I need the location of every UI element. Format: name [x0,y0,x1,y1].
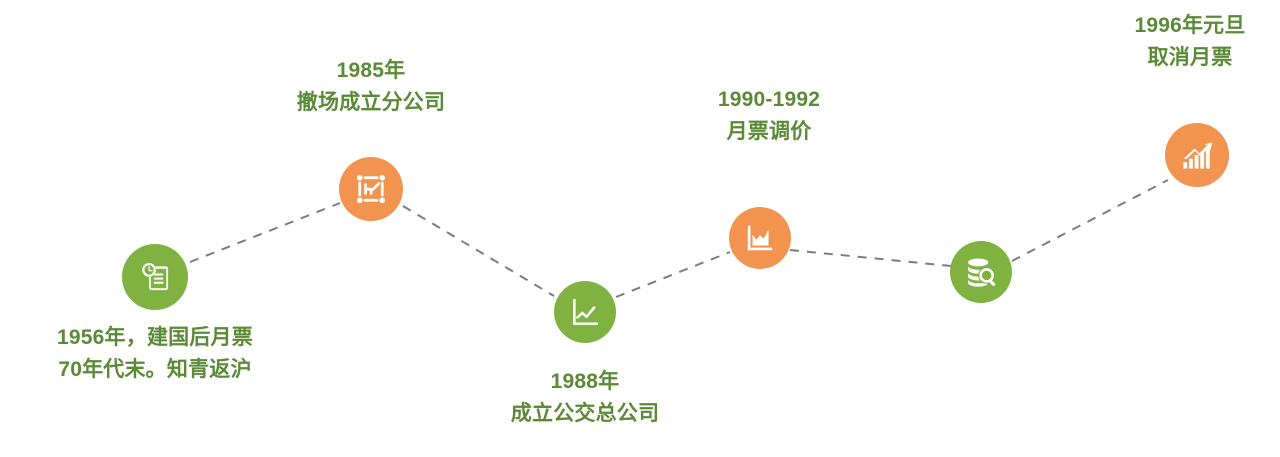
node-label-1990-line1: 1990-1992 [639,84,899,116]
area-chart-icon [743,221,777,255]
connector-1995-1996 [1012,180,1168,261]
node-circle-1956[interactable] [122,244,188,310]
connector-group [190,180,1168,297]
node-label-1996: 1996年元旦 取消月票 [1070,10,1280,74]
connector-1985-1988 [403,206,554,296]
node-label-1985: 1985年 撤场成立分公司 [231,55,511,119]
node-circle-1985[interactable] [339,157,403,221]
node-circle-1995[interactable] [950,241,1012,303]
growth-arrow-icon [1178,136,1216,174]
design-edit-icon [353,171,389,207]
database-search-icon [963,254,999,290]
line-chart-icon [568,295,602,329]
node-circle-1988[interactable] [554,281,616,343]
node-label-1988-line2: 成立公交总公司 [445,398,725,430]
document-clock-icon [136,258,174,296]
connector-1956-1985 [190,203,340,262]
node-label-1988: 1988年 成立公交总公司 [445,366,725,430]
node-label-1996-line1: 1996年元旦 [1070,10,1280,42]
node-label-1990: 1990-1992 月票调价 [639,84,899,148]
node-label-1956: 1956年，建国后月票 70年代末。知青返沪 [5,322,305,386]
node-label-1956-line2: 70年代末。知青返沪 [5,354,305,386]
node-label-1985-line2: 撤场成立分公司 [231,87,511,119]
node-label-1985-line1: 1985年 [231,55,511,87]
timeline-infographic: 1956年，建国后月票 70年代末。知青返沪 [0,0,1280,457]
connector-1990-1995 [790,250,951,266]
node-label-1988-line1: 1988年 [445,366,725,398]
node-label-1990-line2: 月票调价 [639,116,899,148]
node-label-1956-line1: 1956年，建国后月票 [5,322,305,354]
connector-1988-1990 [616,252,730,297]
node-label-1996-line2: 取消月票 [1070,42,1280,74]
node-circle-1990[interactable] [729,207,791,269]
node-circle-1996[interactable] [1165,123,1229,187]
